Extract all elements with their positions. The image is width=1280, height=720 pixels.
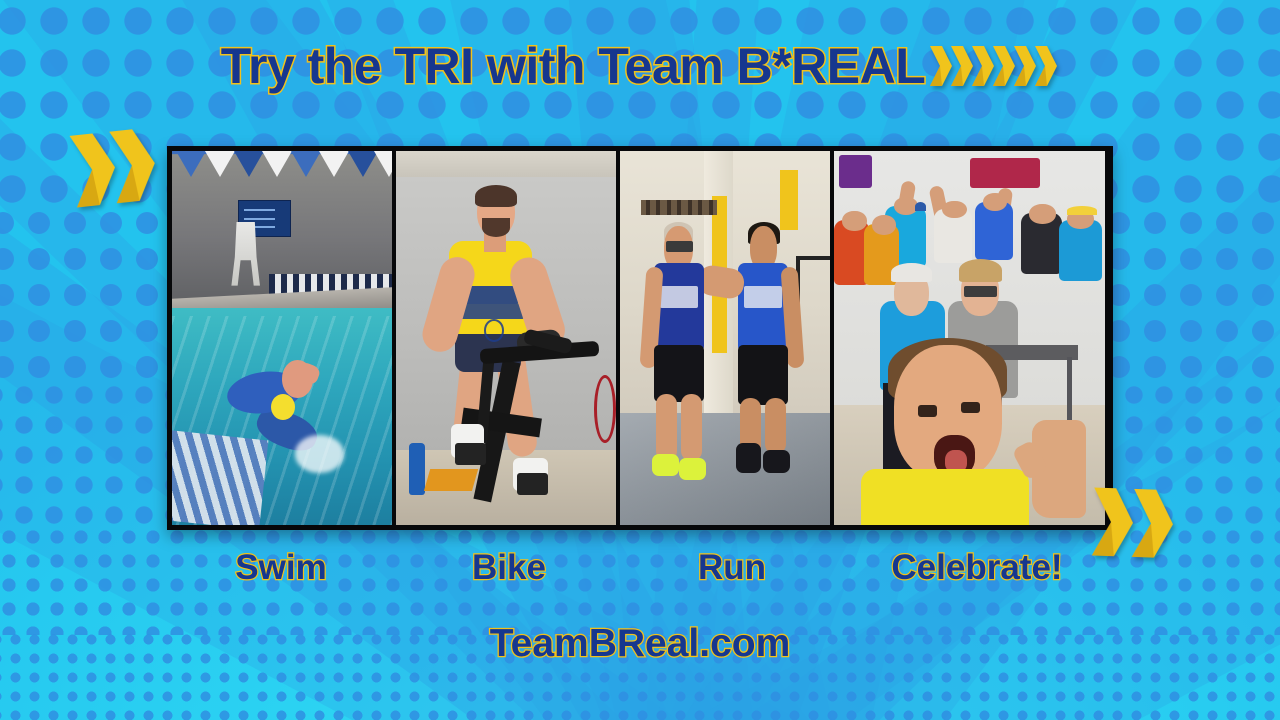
photo-swim — [172, 151, 396, 525]
chevron-group-left — [74, 124, 162, 210]
photo-captions: Swim Bike Run Celebrate! — [167, 538, 1113, 598]
caption-run: Run — [623, 538, 841, 598]
title-row: Try the TRI with Team B*REAL — [0, 40, 1280, 93]
caption-swim: Swim — [167, 538, 395, 598]
photo-strip — [167, 146, 1113, 530]
chevron-right-icon — [1033, 44, 1059, 88]
chevron-right-icon — [106, 124, 162, 207]
poster-canvas: Try the TRI with Team B*REAL — [0, 0, 1280, 720]
footer: TeamBReal.com — [0, 622, 1280, 666]
photo-celebrate — [834, 151, 1105, 525]
caption-celebrate: Celebrate! — [841, 538, 1113, 598]
chevron-right-icon — [1129, 486, 1178, 562]
caption-bike: Bike — [395, 538, 623, 598]
page-title: Try the TRI with Team B*REAL — [221, 40, 926, 93]
chevron-group-title — [933, 44, 1059, 88]
photo-run — [620, 151, 834, 525]
photo-bike — [396, 151, 620, 525]
website-url[interactable]: TeamBReal.com — [490, 622, 791, 666]
